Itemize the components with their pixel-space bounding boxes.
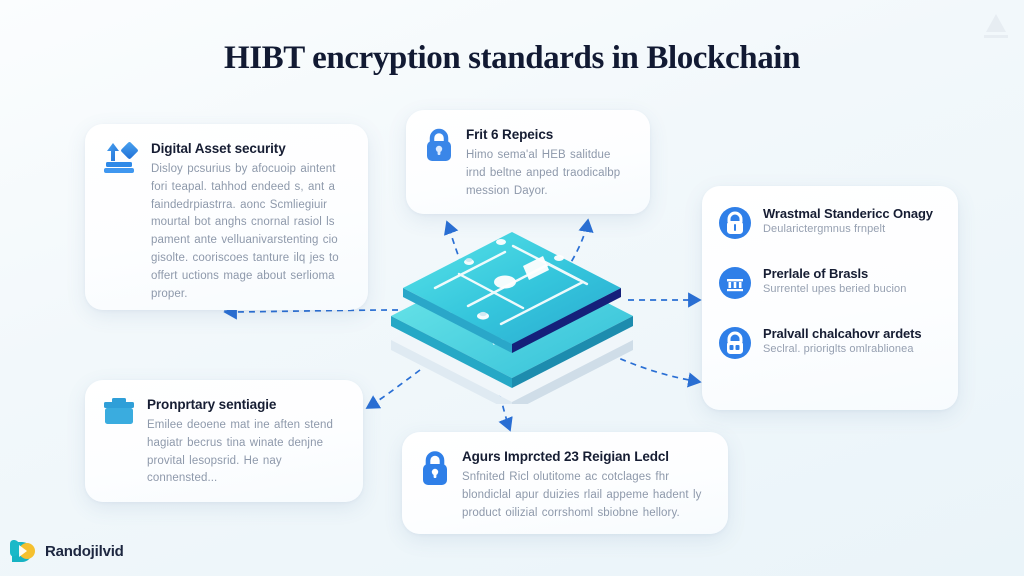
list-item-subtitle: Surrentel upes beried bucion bbox=[763, 283, 906, 295]
list-item[interactable]: Pralvall chalcahovr ardets Seclral. prio… bbox=[718, 326, 940, 360]
logo-text: Randojilvid bbox=[45, 543, 124, 560]
logo[interactable]: Randojilvid bbox=[8, 536, 124, 566]
list-item-subtitle: Seclral. prioriglts omlrablionea bbox=[763, 343, 922, 355]
padlock-icon bbox=[423, 127, 455, 163]
card-reports[interactable]: Frit 6 Repeics Himo sema'al HEB salitdue… bbox=[406, 110, 650, 214]
list-item[interactable]: Wrastmal Standericc Onagy Deularictergmn… bbox=[718, 206, 940, 240]
card-title: Pronprtary sentiagie bbox=[147, 397, 345, 414]
card-proprietary[interactable]: Pronprtary sentiagie Emilee deoene mat i… bbox=[85, 380, 363, 502]
list-item[interactable]: Prerlale of Brasls Surrentel upes beried… bbox=[718, 266, 940, 300]
shield-badge-icon bbox=[102, 141, 140, 175]
card-title: Digital Asset security bbox=[151, 141, 350, 158]
teal-yellow-logo-mark bbox=[8, 536, 38, 566]
card-digital-asset-security[interactable]: Digital Asset security Disloy pcsurius b… bbox=[85, 124, 368, 310]
padlock-circle-icon bbox=[718, 326, 752, 360]
list-item-title: Pralvall chalcahovr ardets bbox=[763, 326, 922, 341]
list-item-title: Wrastmal Standericc Onagy bbox=[763, 206, 933, 221]
card-title: Agurs Imprcted 23 Reigian Ledcl bbox=[462, 449, 710, 466]
list-item-subtitle: Deularictergmnus frnpelt bbox=[763, 223, 933, 235]
card-body: Emilee deoene mat ine aften stend hagiat… bbox=[147, 417, 345, 488]
briefcase-icon bbox=[102, 397, 136, 427]
isometric-blockchain-layers bbox=[373, 222, 651, 404]
card-ledger[interactable]: Agurs Imprcted 23 Reigian Ledcl Snfnited… bbox=[402, 432, 728, 534]
card-body: Disloy pcsurius by afocuoip aintent fori… bbox=[151, 161, 350, 304]
list-item-title: Prerlale of Brasls bbox=[763, 266, 906, 281]
padlock-circle-icon bbox=[718, 206, 752, 240]
card-standards-list[interactable]: Wrastmal Standericc Onagy Deularictergmn… bbox=[702, 186, 958, 410]
card-title: Frit 6 Repeics bbox=[466, 127, 632, 144]
bank-circle-icon bbox=[718, 266, 752, 300]
padlock-icon bbox=[419, 449, 451, 487]
card-body: Snfnited Ricl olutitome ac cotclages fhr… bbox=[462, 469, 710, 522]
card-body: Himo sema'al HEB salitdue irnd beltne an… bbox=[466, 147, 632, 200]
